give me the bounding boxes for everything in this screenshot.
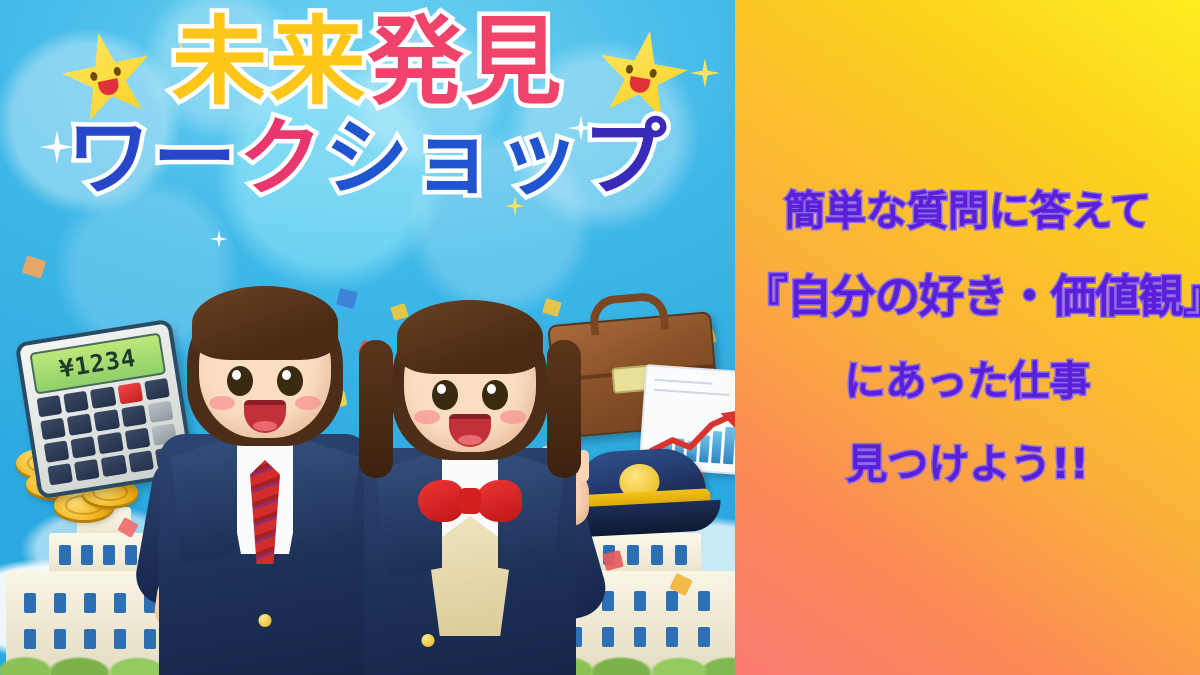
boy-blush-left [209, 396, 235, 410]
calculator-key [101, 455, 127, 477]
girl-hair-side-left [359, 340, 393, 478]
promo-text-line-4: 見つけよう!! [743, 444, 1192, 485]
calculator-key [44, 440, 70, 462]
document-text-line [655, 379, 713, 385]
calculator-key [97, 432, 123, 454]
title-char-ken: 見 [466, 6, 564, 118]
calculator-key [47, 463, 73, 485]
title-seg-ku: ク [238, 109, 324, 207]
building-window [125, 545, 137, 565]
boy-lapel-left [171, 436, 237, 564]
calculator-key [124, 428, 150, 450]
boy-blazer [159, 434, 371, 675]
building-window [81, 545, 93, 565]
calculator-key-clear [117, 382, 143, 404]
building-window [675, 545, 687, 565]
girl-eye-right [482, 380, 508, 410]
bow-lobe-left [418, 480, 464, 522]
calculator-display-value: ¥1234 [57, 344, 138, 384]
girl-smiling-mouth [449, 414, 491, 447]
calculator-key [63, 391, 89, 413]
poster-title: 未来発見 ワークショップ [0, 14, 735, 200]
building-window [84, 593, 96, 613]
calculator-key [74, 459, 100, 481]
promo-text-panel: 簡単な質問に答えて 『自分の好き・価値観』 にあった仕事 見つけよう!! [735, 0, 1200, 675]
poster-image: 未来発見 ワークショップ [0, 0, 735, 675]
boy-blush-right [295, 396, 321, 410]
girl-hair-front [397, 300, 543, 374]
boy-smiling-mouth [244, 400, 286, 433]
building-window [634, 591, 646, 611]
boy-eye-left [227, 366, 253, 396]
calculator-key [37, 395, 63, 417]
poster-title-line-1: 未来発見 [0, 14, 735, 110]
building-window [54, 593, 66, 613]
promo-text-line-1: 簡単な質問に答えて [743, 191, 1192, 232]
poster-screenshot: 未来発見 ワークショップ [0, 0, 1200, 675]
building-window [651, 545, 663, 565]
blazer-button [421, 634, 434, 647]
title-seg-wa: ワー [66, 109, 238, 207]
building-window [627, 545, 639, 565]
boy-hair-front [192, 286, 338, 360]
schoolgirl-character [355, 300, 585, 675]
building-window [114, 593, 126, 613]
girl-red-bow [418, 478, 522, 524]
title-char-rai: 来 [270, 6, 368, 118]
calculator-key [71, 436, 97, 458]
calculator-key [40, 418, 66, 440]
girl-blazer [364, 448, 576, 675]
building-window [698, 591, 710, 611]
blazer-button [259, 614, 272, 627]
title-char-mi: 未 [172, 6, 270, 118]
girl-hair-side-right [547, 340, 581, 478]
building-window [103, 545, 115, 565]
girl-blush-left [414, 410, 440, 424]
poster-title-line-2: ワークショップ [0, 116, 735, 200]
promo-text-line-3: にあった仕事 [743, 361, 1192, 402]
girl-blush-right [500, 410, 526, 424]
title-seg-shop: ショッ [325, 109, 583, 207]
promo-text-line-2: 『自分の好き・価値観』 [743, 274, 1192, 319]
title-char-hatsu: 発 [368, 6, 466, 118]
calculator-key [67, 413, 93, 435]
title-seg-pu: プ [583, 109, 669, 207]
calculator-key [121, 405, 147, 427]
building-window [59, 545, 71, 565]
bow-lobe-right [476, 480, 522, 522]
building-window [666, 591, 678, 611]
calculator-key [90, 386, 116, 408]
boy-eye-right [277, 366, 303, 396]
document-text-line [654, 389, 730, 396]
girl-eye-left [432, 380, 458, 410]
boy-lapel-right [293, 436, 359, 564]
calculator-key [94, 409, 120, 431]
schoolboy-character [150, 286, 380, 675]
building-window [24, 593, 36, 613]
bow-knot [459, 488, 481, 514]
